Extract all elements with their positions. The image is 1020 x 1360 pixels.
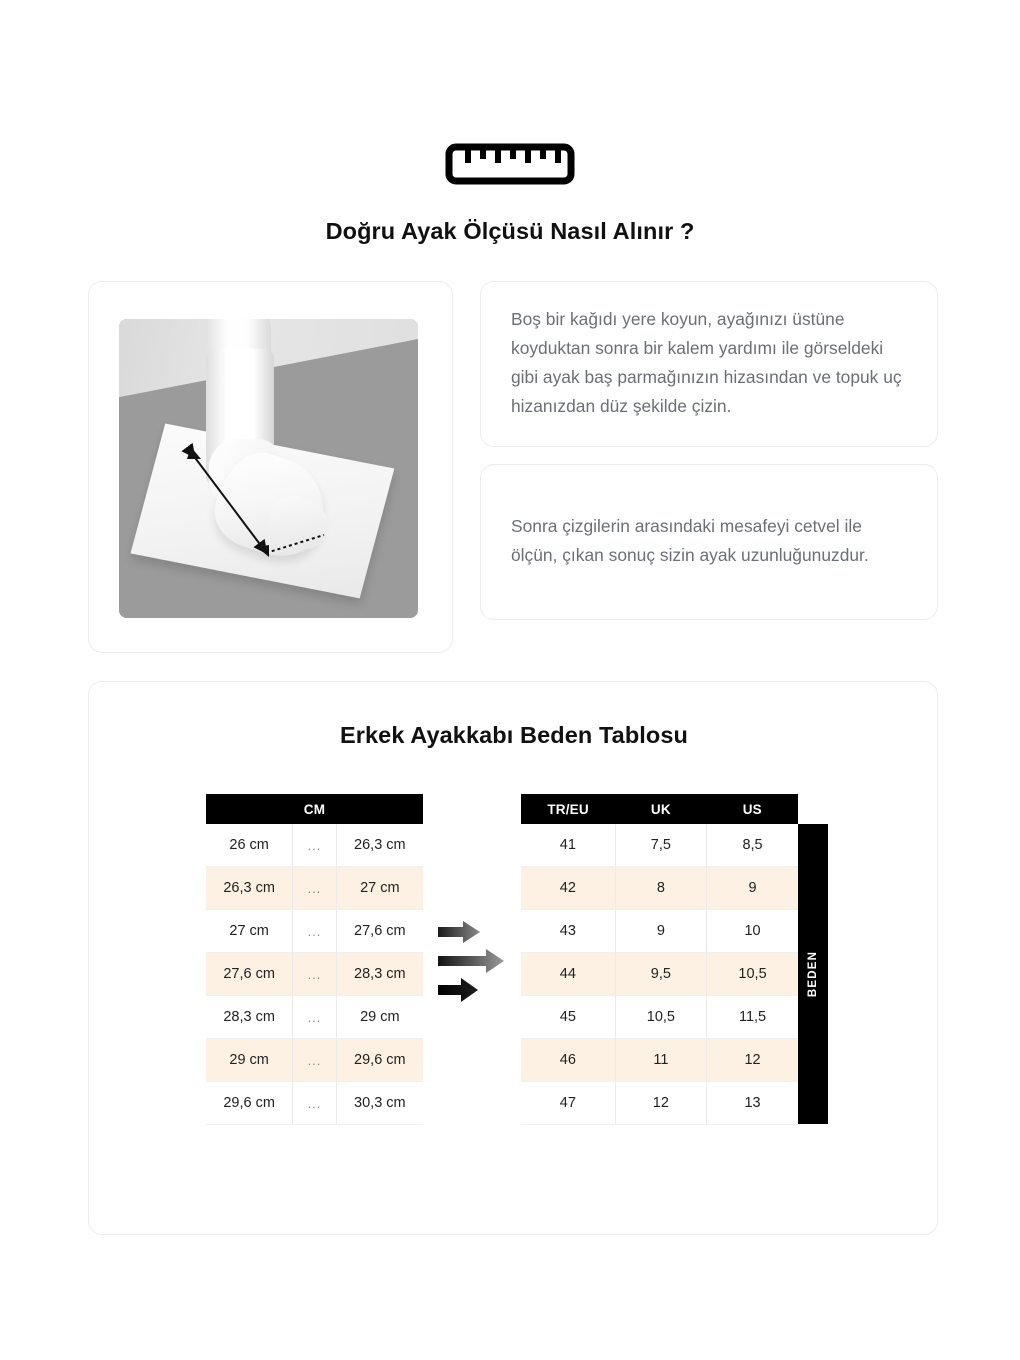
cell-us: 13 [707, 1082, 798, 1125]
ruler-icon-container [0, 143, 1020, 185]
cell-treu: 47 [521, 1082, 615, 1125]
cm-table-wrapper: CM 26 cm ... 26,3 cm 26,3 cm ... 27 cm [206, 794, 423, 1125]
table-row: 29,6 cm ... 30,3 cm [206, 1082, 423, 1125]
cm-to: 30,3 cm [336, 1082, 423, 1125]
beden-side-bar: BEDEN [798, 824, 828, 1124]
table-row: 29 cm ... 29,6 cm [206, 1039, 423, 1082]
cell-us: 10 [707, 910, 798, 953]
cm-to: 29 cm [336, 996, 423, 1039]
instruction-card-2: Sonra çizgilerin arasındaki mesafeyi cet… [480, 464, 938, 620]
cell-us: 9 [707, 867, 798, 910]
cm-from: 29 cm [206, 1039, 293, 1082]
cm-to: 27 cm [336, 867, 423, 910]
cell-uk: 9,5 [615, 953, 706, 996]
arrow-middle [438, 949, 504, 973]
instruction-card-1: Boş bir kağıdı yere koyun, ayağınızı üst… [480, 281, 938, 447]
cm-to: 26,3 cm [336, 824, 423, 867]
page-title: Doğru Ayak Ölçüsü Nasıl Alınır ? [0, 218, 1020, 245]
cell-treu: 43 [521, 910, 615, 953]
header-treu: TR/EU [521, 794, 615, 824]
size-table-wrapper: TR/EU UK US 41 7,5 8,5 42 8 [521, 794, 798, 1125]
cm-to: 27,6 cm [336, 910, 423, 953]
cell-treu: 44 [521, 953, 615, 996]
cell-uk: 11 [615, 1039, 706, 1082]
table-row: 27,6 cm ... 28,3 cm [206, 953, 423, 996]
cell-uk: 7,5 [615, 824, 706, 867]
header-uk: UK [615, 794, 706, 824]
size-chart-title: Erkek Ayakkabı Beden Tablosu [89, 722, 939, 749]
cm-header-cell: CM [206, 794, 423, 824]
cell-treu: 46 [521, 1039, 615, 1082]
size-table-header-row: TR/EU UK US [521, 794, 798, 824]
conversion-arrows [438, 920, 524, 1010]
instruction-text-2: Sonra çizgilerin arasındaki mesafeyi cet… [511, 512, 909, 570]
header-us: US [707, 794, 798, 824]
table-row: 26,3 cm ... 27 cm [206, 867, 423, 910]
cell-us: 11,5 [707, 996, 798, 1039]
table-row: 26 cm ... 26,3 cm [206, 824, 423, 867]
beden-label: BEDEN [807, 951, 819, 997]
cell-treu: 41 [521, 824, 615, 867]
cm-sep: ... [293, 1039, 336, 1082]
size-chart-tables: CM 26 cm ... 26,3 cm 26,3 cm ... 27 cm [89, 794, 939, 1124]
table-row: 41 7,5 8,5 [521, 824, 798, 867]
arrow-bottom [438, 978, 478, 1002]
table-row: 45 10,5 11,5 [521, 996, 798, 1039]
cm-sep: ... [293, 910, 336, 953]
table-row: 46 11 12 [521, 1039, 798, 1082]
cm-sep: ... [293, 953, 336, 996]
cell-uk: 12 [615, 1082, 706, 1125]
table-row: 28,3 cm ... 29 cm [206, 996, 423, 1039]
table-row: 47 12 13 [521, 1082, 798, 1125]
arrows-icon [438, 920, 524, 1010]
cell-treu: 45 [521, 996, 615, 1039]
cm-sep: ... [293, 867, 336, 910]
photo-card [88, 281, 453, 653]
size-table: TR/EU UK US 41 7,5 8,5 42 8 [521, 794, 798, 1125]
measure-line [193, 455, 265, 551]
cm-sep: ... [293, 824, 336, 867]
cell-uk: 9 [615, 910, 706, 953]
measurement-arrow-overlay [119, 319, 418, 618]
cm-to: 28,3 cm [336, 953, 423, 996]
ruler-icon [445, 143, 575, 185]
cell-us: 8,5 [707, 824, 798, 867]
foot-measurement-photo [119, 319, 418, 618]
cm-from: 26 cm [206, 824, 293, 867]
measure-dashed-line [266, 535, 324, 553]
cm-from: 26,3 cm [206, 867, 293, 910]
cm-to: 29,6 cm [336, 1039, 423, 1082]
cm-from: 27,6 cm [206, 953, 293, 996]
arrow-top [438, 921, 480, 943]
cm-table-header-row: CM [206, 794, 423, 824]
instruction-text-1: Boş bir kağıdı yere koyun, ayağınızı üst… [511, 305, 909, 421]
cm-from: 29,6 cm [206, 1082, 293, 1125]
size-guide-page: Doğru Ayak Ölçüsü Nasıl Alınır ? [0, 0, 1020, 1360]
cm-from: 27 cm [206, 910, 293, 953]
cell-uk: 10,5 [615, 996, 706, 1039]
cell-us: 12 [707, 1039, 798, 1082]
cell-treu: 42 [521, 867, 615, 910]
table-row: 44 9,5 10,5 [521, 953, 798, 996]
cm-sep: ... [293, 1082, 336, 1125]
size-chart-card: Erkek Ayakkabı Beden Tablosu CM 26 cm ..… [88, 681, 938, 1235]
cm-sep: ... [293, 996, 336, 1039]
cell-us: 10,5 [707, 953, 798, 996]
table-row: 43 9 10 [521, 910, 798, 953]
cell-uk: 8 [615, 867, 706, 910]
cm-table: CM 26 cm ... 26,3 cm 26,3 cm ... 27 cm [206, 794, 423, 1125]
cm-from: 28,3 cm [206, 996, 293, 1039]
table-row: 27 cm ... 27,6 cm [206, 910, 423, 953]
table-row: 42 8 9 [521, 867, 798, 910]
